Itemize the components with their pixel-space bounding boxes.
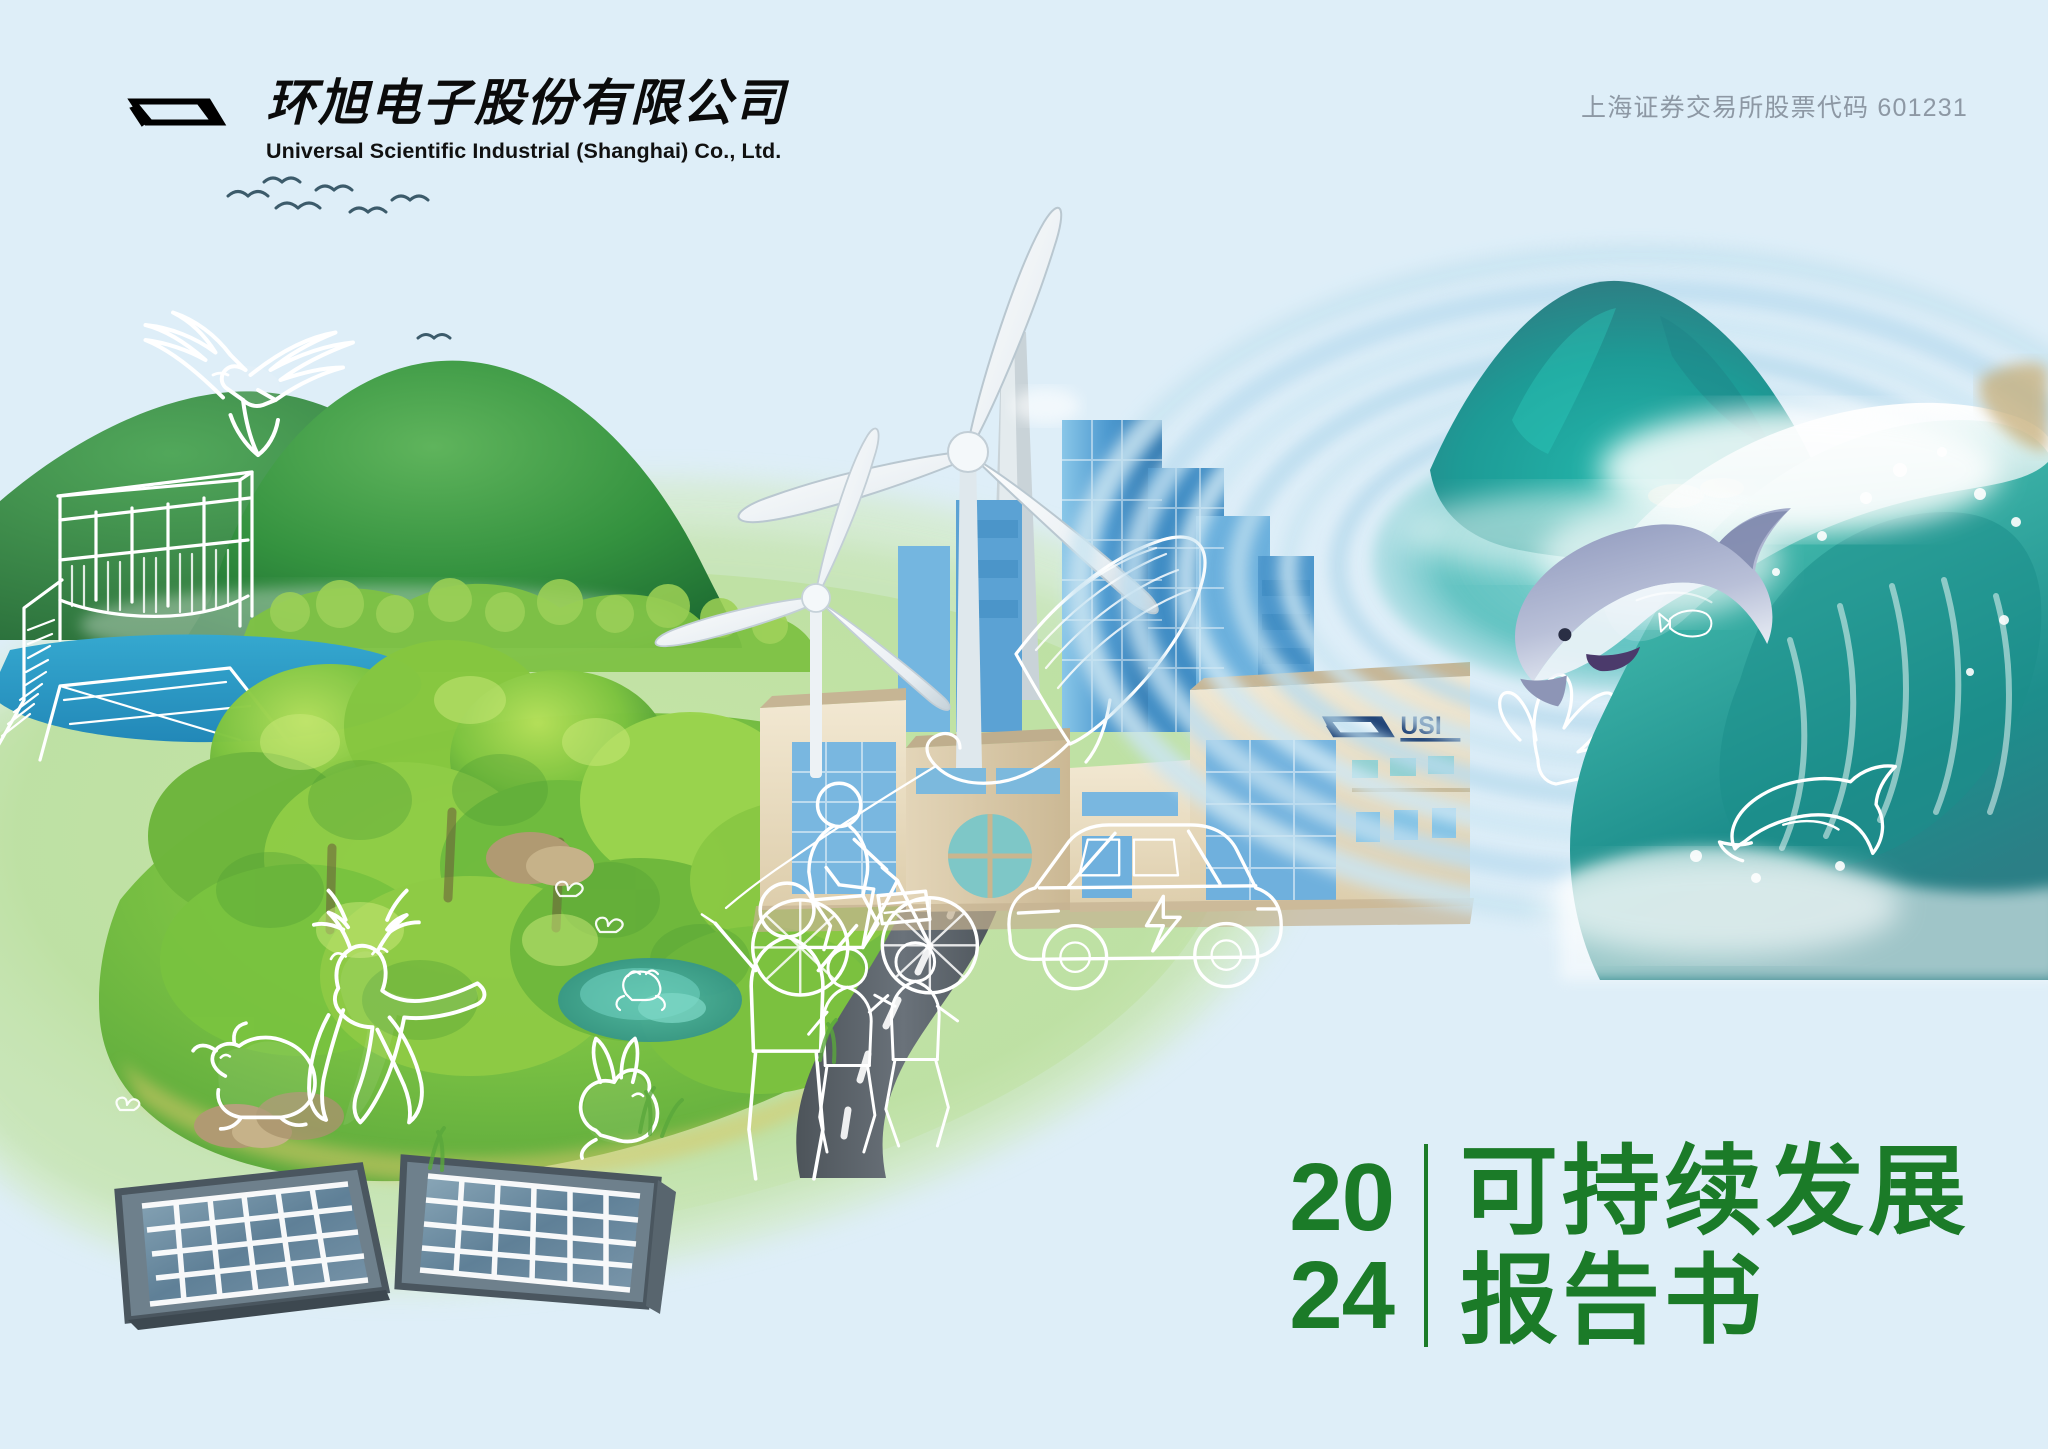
year-bottom: 24 [1289, 1247, 1394, 1345]
stock-code-label: 上海证券交易所股票代码 601231 [1581, 88, 1968, 124]
report-cover: USI [0, 0, 2048, 1449]
report-title-block: 20 24 可持续发展 报告书 [1289, 1138, 1970, 1358]
report-title-cn: 可持续发展 报告书 [1428, 1138, 1970, 1358]
company-name-cn: 环旭电子股份有限公司 [266, 78, 786, 128]
ocean-wave [1540, 403, 2048, 980]
title-line-2: 报告书 [1460, 1247, 1970, 1357]
cover-header: 环旭电子股份有限公司 Universal Scientific Industri… [0, 0, 2048, 190]
year-top: 20 [1289, 1149, 1394, 1247]
company-name-en: Universal Scientific Industrial (Shangha… [266, 139, 786, 164]
company-brand: 环旭电子股份有限公司 Universal Scientific Industri… [126, 78, 786, 164]
solar-panel [398, 1158, 676, 1314]
report-year: 20 24 [1289, 1138, 1424, 1358]
title-line-1: 可持续发展 [1460, 1138, 1970, 1248]
usi-logo-icon [126, 84, 244, 140]
